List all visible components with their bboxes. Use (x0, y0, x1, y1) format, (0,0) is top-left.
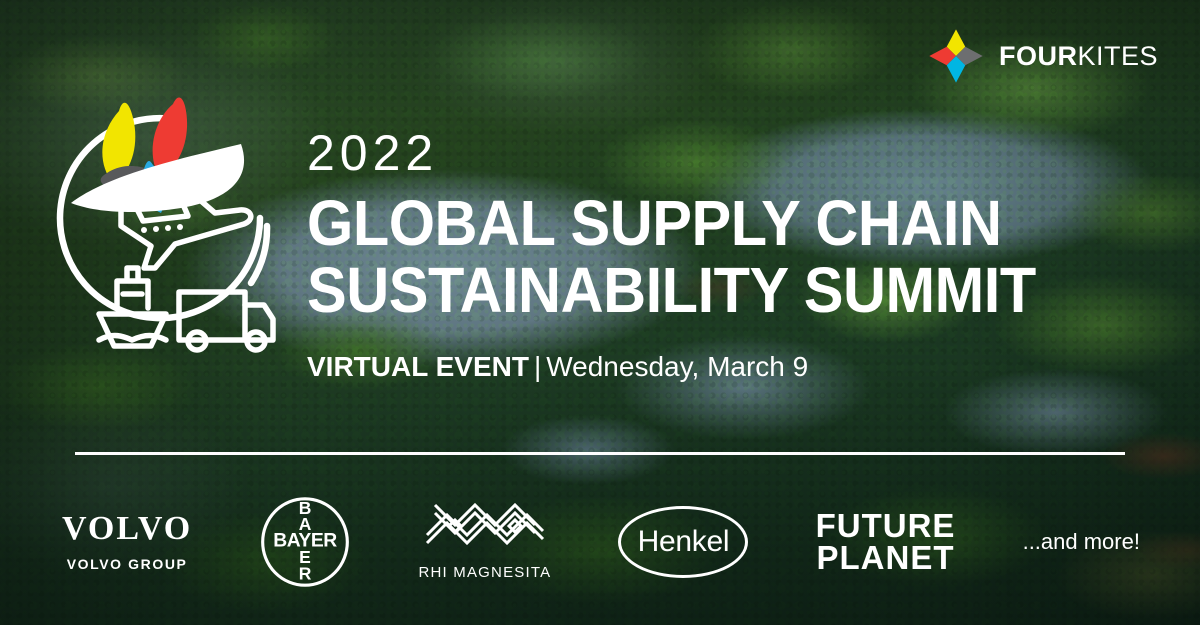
rhi-magnesita-wordmark: RHI MAGNESITA (418, 564, 551, 581)
more-sponsors-label-wrap: ...and more! (1023, 529, 1140, 555)
sponsor-future-planet[interactable]: FUTURE PLANET (816, 510, 956, 573)
event-date: Wednesday, March 9 (546, 351, 808, 382)
volvo-group-label: VOLVO GROUP (67, 556, 188, 572)
event-format-label: VIRTUAL EVENT (307, 351, 529, 382)
headline-block: 2022 GLOBAL SUPPLY CHAIN SUSTAINABILITY … (307, 128, 1127, 383)
fourkites-wordmark: FOURKITES (999, 43, 1158, 70)
sponsor-henkel[interactable]: Henkel (618, 506, 748, 578)
svg-text:R: R (299, 564, 312, 584)
henkel-wordmark: Henkel (618, 506, 748, 578)
leaves-group-icon (71, 97, 244, 213)
event-title-line1: GLOBAL SUPPLY CHAIN (307, 192, 1070, 255)
event-promo-banner: FOURKITES (0, 0, 1200, 625)
event-year: 2022 (307, 128, 1127, 178)
fourkites-brand-lockup[interactable]: FOURKITES (927, 27, 1158, 85)
henkel-logo: Henkel (618, 506, 748, 578)
rhi-magnesita-chevron-logo-icon (425, 503, 545, 553)
event-meta: VIRTUAL EVENT|Wednesday, March 9 (307, 351, 1127, 383)
volvo-wordmark: VOLVO (62, 512, 192, 546)
meta-separator: | (529, 351, 546, 382)
fourkites-diamond-logo-icon (927, 27, 985, 85)
badge-graphic (55, 78, 295, 368)
future-planet-line2: PLANET (817, 542, 955, 574)
sponsor-bayer[interactable]: BAYER B A E R (259, 496, 351, 588)
more-sponsors-label: ...and more! (1023, 529, 1140, 555)
future-planet-line1: FUTURE (816, 510, 956, 542)
airplane-windows-icon (141, 224, 183, 233)
fourkites-wordmark-bold: FOUR (999, 41, 1078, 71)
sponsor-logo-strip: VOLVO VOLVO GROUP BAYER B A E R (62, 492, 1140, 592)
section-divider (75, 452, 1125, 455)
svg-text:A: A (299, 514, 312, 534)
sponsor-volvo[interactable]: VOLVO VOLVO GROUP (62, 512, 192, 572)
sponsor-rhi-magnesita[interactable]: RHI MAGNESITA (418, 503, 551, 581)
bayer-cross-logo-icon: BAYER B A E R (259, 496, 351, 588)
sustainable-transport-badge (55, 78, 295, 368)
delivery-truck-icon (179, 292, 273, 350)
event-title-line2: SUSTAINABILITY SUMMIT (307, 259, 1070, 322)
fourkites-wordmark-light: KITES (1077, 41, 1158, 71)
